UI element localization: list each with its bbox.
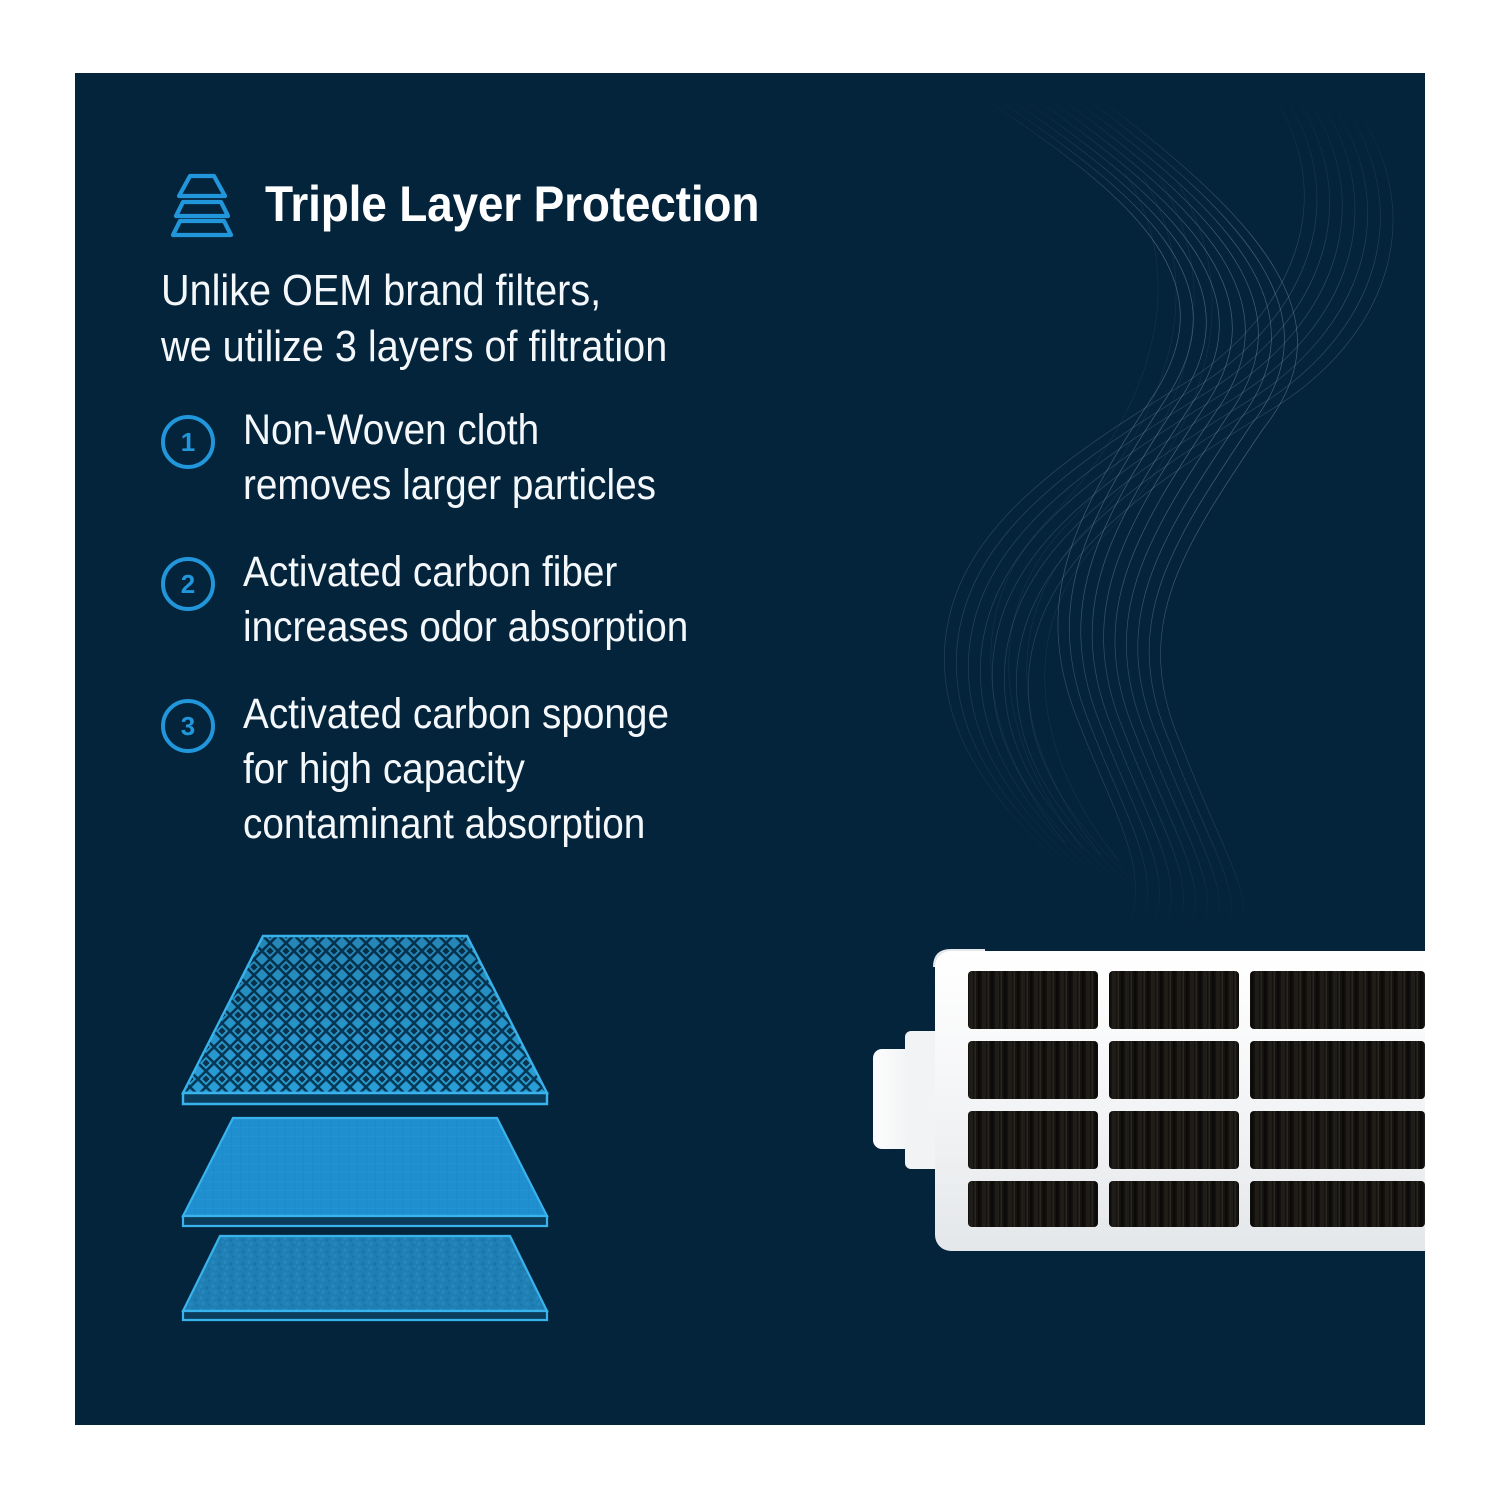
step-text: Activated carbon sponge for high capacit…: [243, 687, 669, 852]
step-line: for high capacity: [243, 742, 669, 797]
step-line: Non-Woven cloth: [243, 403, 656, 458]
step-line: Activated carbon fiber: [243, 545, 688, 600]
step-line: removes larger particles: [243, 458, 656, 513]
step-line: increases odor absorption: [243, 600, 688, 655]
intro-line-2: we utilize 3 layers of filtration: [161, 319, 667, 375]
intro-paragraph: Unlike OEM brand filters, we utilize 3 l…: [161, 263, 667, 376]
layer-carbon-sponge: [170, 1231, 570, 1321]
list-item: 1 Non-Woven cloth removes larger particl…: [161, 403, 981, 513]
list-item: 3 Activated carbon sponge for high capac…: [161, 687, 981, 852]
step-line: contaminant absorption: [243, 797, 669, 852]
infographic-canvas: Triple Layer Protection Unlike OEM brand…: [0, 0, 1500, 1500]
layer-non-woven-cloth: [170, 931, 570, 1104]
stacked-layers-icon: [163, 165, 241, 243]
layer-carbon-fiber: [170, 1111, 570, 1226]
refrigerator-air-filter: [865, 881, 1425, 1321]
step-number-badge: 1: [161, 415, 215, 469]
step-number-badge: 3: [161, 699, 215, 753]
step-text: Non-Woven cloth removes larger particles: [243, 403, 656, 513]
filter-carbon-cells: [968, 971, 1425, 1227]
list-item: 2 Activated carbon fiber increases odor …: [161, 545, 981, 655]
step-number-badge: 2: [161, 557, 215, 611]
step-line: Activated carbon sponge: [243, 687, 669, 742]
step-text: Activated carbon fiber increases odor ab…: [243, 545, 688, 655]
page-title: Triple Layer Protection: [265, 175, 759, 233]
header: Triple Layer Protection: [163, 165, 802, 243]
intro-line-1: Unlike OEM brand filters,: [161, 263, 667, 319]
content-panel: Triple Layer Protection Unlike OEM brand…: [75, 73, 1425, 1425]
exploded-three-layer-diagram: [150, 911, 580, 1341]
filtration-steps-list: 1 Non-Woven cloth removes larger particl…: [161, 403, 981, 884]
